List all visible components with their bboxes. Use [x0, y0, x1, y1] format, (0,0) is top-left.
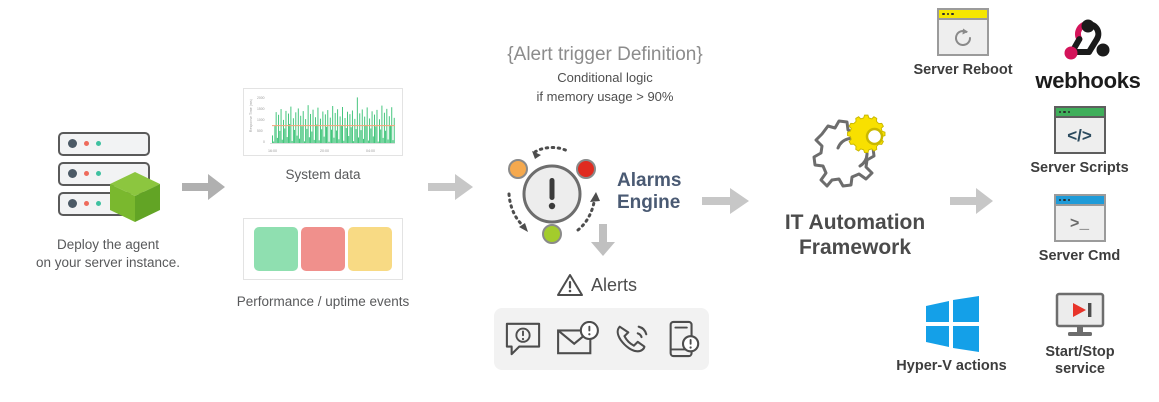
- start-stop-label-line2: service: [1045, 361, 1114, 378]
- chart-y-tick-1000: 1000: [257, 118, 265, 122]
- server-cmd-action[interactable]: >_ Server Cmd: [1022, 194, 1137, 265]
- server-reboot-icon: [937, 8, 989, 56]
- chart-y-tick-1500: 1500: [257, 107, 265, 111]
- deploy-agent-caption: Deploy the agent on your server instance…: [10, 236, 206, 272]
- hyper-v-label: Hyper-V actions: [896, 358, 1006, 375]
- chart-plot-area: [272, 97, 395, 144]
- chart-series-svg: [272, 97, 395, 144]
- chat-alert-icon[interactable]: [504, 321, 542, 357]
- flow-arrow-4: [950, 186, 994, 216]
- chart-y-axis-label: Response Time (ms): [249, 99, 253, 132]
- chart-y-tick-2000: 2000: [257, 96, 265, 100]
- alarms-engine-label-line1: Alarms: [617, 170, 681, 192]
- flow-arrow-2: [428, 172, 474, 202]
- system-data-caption: System data: [243, 166, 403, 184]
- performance-events-caption: Performance / uptime events: [213, 293, 433, 311]
- perf-block-red: [301, 227, 345, 271]
- start-stop-label-line1: Start/Stop: [1045, 344, 1114, 361]
- start-stop-service-label: Start/Stop service: [1045, 344, 1114, 379]
- deploy-caption-line2: on your server instance.: [10, 254, 206, 272]
- alarms-engine-label-line2: Engine: [617, 192, 681, 214]
- server-reboot-label: Server Reboot: [913, 62, 1012, 79]
- itaf-label-line2: Framework: [745, 235, 965, 260]
- perf-block-green: [254, 227, 298, 271]
- system-data-chart-card: Response Time (ms) 2000 1500 1000 500 0 …: [243, 88, 403, 156]
- green-cube-icon: [108, 170, 162, 224]
- alert-channels-box: [494, 308, 709, 370]
- phone-call-alert-icon[interactable]: [614, 321, 652, 357]
- alert-trigger-definition: {Alert trigger Definition} Conditional l…: [455, 44, 755, 107]
- mobile-push-alert-icon[interactable]: [666, 320, 700, 358]
- webhooks-action[interactable]: webhooks: [1028, 18, 1148, 94]
- windows-logo-icon: [922, 296, 982, 352]
- server-scripts-icon: </>: [1054, 106, 1106, 154]
- server-stack-icon: [58, 132, 156, 224]
- alert-definition-title: {Alert trigger Definition}: [455, 44, 755, 66]
- chart-x-tick-2: 04:00: [366, 149, 375, 153]
- alarms-engine-label: Alarms Engine: [617, 170, 681, 214]
- webhooks-icon: [1059, 18, 1117, 68]
- server-reboot-action[interactable]: Server Reboot: [903, 8, 1023, 79]
- server-cmd-label: Server Cmd: [1039, 248, 1120, 265]
- flow-arrow-3: [702, 186, 750, 216]
- alert-definition-line1: Conditional logic: [455, 69, 755, 88]
- system-data-chart: Response Time (ms) 2000 1500 1000 500 0 …: [248, 93, 398, 153]
- perf-block-yellow: [348, 227, 392, 271]
- chart-x-tick-0: 16:00: [268, 149, 277, 153]
- flow-arrow-1: [182, 172, 226, 202]
- it-automation-framework-label: IT Automation Framework: [745, 210, 965, 260]
- chart-y-tick-0: 0: [263, 140, 265, 144]
- down-arrow-icon: [585, 222, 621, 263]
- alerts-heading: Alerts: [556, 272, 637, 298]
- itaf-label-line1: IT Automation: [745, 210, 965, 235]
- deploy-caption-line1: Deploy the agent: [10, 236, 206, 254]
- hyper-v-action[interactable]: Hyper-V actions: [884, 296, 1019, 375]
- alert-definition-line2: if memory usage > 90%: [455, 88, 755, 107]
- reboot-arrow-icon: [952, 27, 974, 49]
- server-cmd-icon: >_: [1054, 194, 1106, 242]
- monitor-play-icon: [1053, 292, 1107, 338]
- warning-triangle-icon: [556, 272, 584, 298]
- diagram-canvas: Deploy the agent on your server instance…: [0, 0, 1159, 402]
- email-alert-icon[interactable]: [556, 321, 600, 357]
- chart-y-tick-500: 500: [257, 129, 263, 133]
- server-scripts-action[interactable]: </> Server Scripts: [1022, 106, 1137, 177]
- chart-x-tick-1: 20:00: [320, 149, 329, 153]
- webhooks-label: webhooks: [1035, 68, 1140, 94]
- start-stop-service-action[interactable]: Start/Stop service: [1026, 292, 1134, 379]
- automation-gears-icon: [800, 104, 908, 209]
- alerts-label: Alerts: [591, 275, 637, 296]
- server-scripts-label: Server Scripts: [1030, 160, 1128, 177]
- performance-events-card: [243, 218, 403, 280]
